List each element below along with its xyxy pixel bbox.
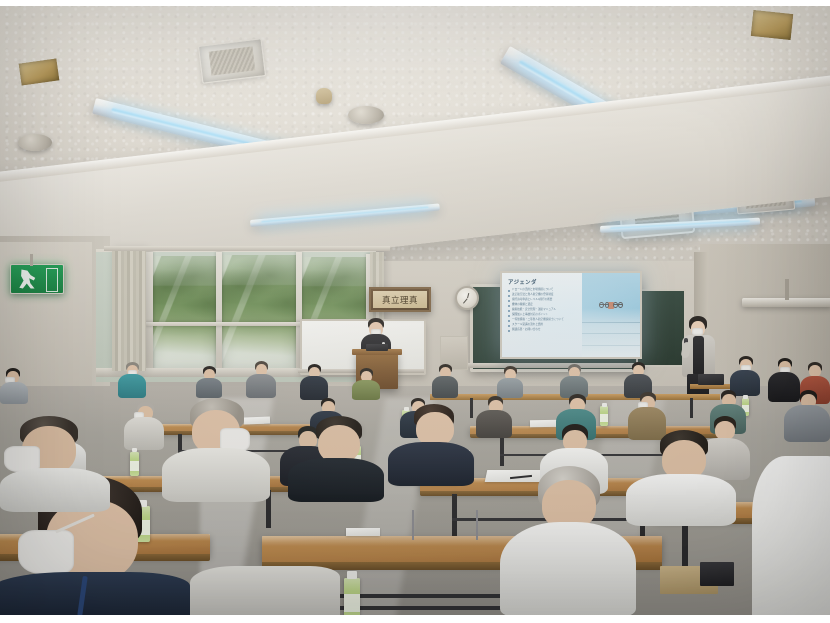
torso (432, 376, 458, 398)
torso (784, 405, 830, 442)
audience-member (190, 566, 340, 615)
calligraphy-plaque-text: 真立理真 (373, 291, 427, 308)
blackboard-chalk-tray (468, 363, 638, 368)
audience-member (560, 364, 588, 398)
torso (626, 474, 736, 526)
inner-top (693, 336, 704, 376)
audience-member (432, 364, 458, 398)
smoke-detector (316, 88, 332, 104)
handout-papers (346, 528, 380, 536)
torso (162, 448, 270, 502)
window-mullion (146, 252, 153, 370)
window-pane (222, 255, 296, 368)
slide-bullet: スクール受講の流れと費用 (508, 324, 578, 327)
bullet-dot-icon (508, 320, 510, 322)
torso (190, 566, 340, 615)
exit-door-icon (46, 268, 57, 291)
audience-member (352, 368, 380, 400)
slide-image-panel (582, 273, 640, 357)
audience-member (196, 366, 222, 398)
audience-member (124, 402, 164, 450)
torso (0, 572, 190, 615)
face-mask (692, 328, 703, 335)
audience-member (246, 361, 276, 398)
calligraphy-plaque: 真立理真 (369, 287, 431, 312)
torso (497, 378, 523, 398)
torso (118, 374, 146, 398)
face-mask (18, 530, 74, 574)
audience-member (784, 390, 830, 442)
bullet-dot-icon (508, 305, 510, 307)
emergency-exit-sign (10, 264, 64, 294)
bullet-dot-icon (508, 290, 510, 292)
window-pane (152, 256, 216, 368)
torso (300, 376, 328, 400)
slide-bullet: ドローンの活用と市場規模について (508, 289, 578, 292)
slide-horizon-line (582, 322, 640, 323)
curtain-rail (104, 246, 390, 251)
laptop (700, 562, 734, 586)
projector-screen: アジェンダ ドローンの活用と市場規模について 改正航空法と無人航空機の登録制度 … (500, 271, 642, 359)
slide-bullet: 質疑応答・お問い合わせ (508, 329, 578, 332)
bullet-dot-icon (508, 295, 510, 297)
torso (246, 374, 276, 398)
slide-bullet: 一等無資格・二等無人航空機操縦士について (508, 319, 578, 322)
window-reflection (152, 256, 216, 368)
drone-rotor (599, 302, 604, 308)
audience-member (626, 430, 736, 526)
chair-leg (412, 510, 414, 540)
audience-member (476, 396, 512, 438)
bullet-dot-icon (508, 330, 510, 332)
bottle-label (344, 594, 360, 612)
tea-bottle (344, 578, 360, 615)
bullet-dot-icon (508, 300, 510, 302)
torso (388, 442, 474, 486)
letterbox-bottom (0, 615, 830, 623)
slide-horizon-line (582, 345, 640, 346)
ceiling-speaker (348, 106, 384, 124)
audience-member (388, 404, 474, 486)
curtain (112, 249, 146, 371)
audience-member (288, 416, 384, 502)
tea-bottle (130, 452, 139, 476)
audience-member (0, 368, 28, 404)
recessed-downlight (751, 10, 793, 40)
bottle-label (600, 414, 608, 422)
slide-bullet: 保険加入と事故対応のポイント (508, 314, 578, 317)
bottle-label (130, 461, 139, 471)
slide-bullet: 改正航空法と無人航空機の登録制度 (508, 294, 578, 297)
torso (0, 468, 110, 512)
laptop (698, 374, 724, 385)
chair-leg (476, 510, 478, 540)
wall-clock (455, 286, 479, 310)
torso (476, 410, 512, 438)
laptop (366, 344, 388, 351)
table-leg (500, 436, 504, 466)
slide-title: アジェンダ (508, 278, 578, 286)
slide-text-panel: アジェンダ ドローンの活用と市場規模について 改正航空法と無人航空機の登録制度 … (502, 273, 582, 357)
torso (500, 522, 636, 615)
torso (196, 378, 222, 398)
audience-member (162, 398, 270, 502)
torso (288, 458, 384, 502)
exit-sign-bracket (30, 254, 33, 266)
bullet-dot-icon (508, 315, 510, 317)
torso (124, 417, 164, 450)
torso (752, 456, 830, 615)
audience-member (752, 456, 830, 615)
slide-bullet: 飛行許可申請とレベル4飛行の概要 (508, 299, 578, 302)
audience-member (0, 416, 110, 512)
drone-rotor (618, 302, 623, 308)
bullet-dot-icon (508, 310, 510, 312)
slide-horizon-line (582, 333, 640, 334)
torso (352, 380, 380, 400)
tea-bottle (600, 406, 608, 426)
photograph: アジェンダ ドローンの活用と市場規模について 改正航空法と無人航空機の登録制度 … (0, 6, 830, 615)
roller-screen-bracket (785, 279, 789, 300)
running-person-icon (18, 269, 36, 288)
audience-member (118, 362, 146, 398)
audience-member (300, 364, 328, 400)
window-mullion (216, 252, 222, 370)
table-leg (690, 398, 693, 418)
bottle-cap (602, 403, 607, 407)
ceiling-speaker (18, 134, 52, 151)
drone-illustration (599, 298, 622, 313)
bottle-cap (347, 571, 357, 579)
bullet-dot-icon (508, 325, 510, 327)
drone-rotor (613, 302, 618, 308)
head (416, 412, 454, 446)
window-reflection (222, 255, 296, 368)
table-leg (452, 494, 457, 536)
audience-member (500, 466, 636, 615)
bottle-cap (132, 448, 137, 452)
air-diffuser-vent (198, 38, 266, 84)
torso (0, 382, 28, 404)
table-leg (682, 522, 688, 566)
slide-bullet: 操縦技能・安全管理・運航マニュアル (508, 309, 578, 312)
audience-member (497, 366, 523, 398)
photo-canvas: アジェンダ ドローンの活用と市場規模について 改正航空法と無人航空機の登録制度 … (0, 0, 830, 623)
slide-bullet: 機体の種類と選定 (508, 304, 578, 307)
